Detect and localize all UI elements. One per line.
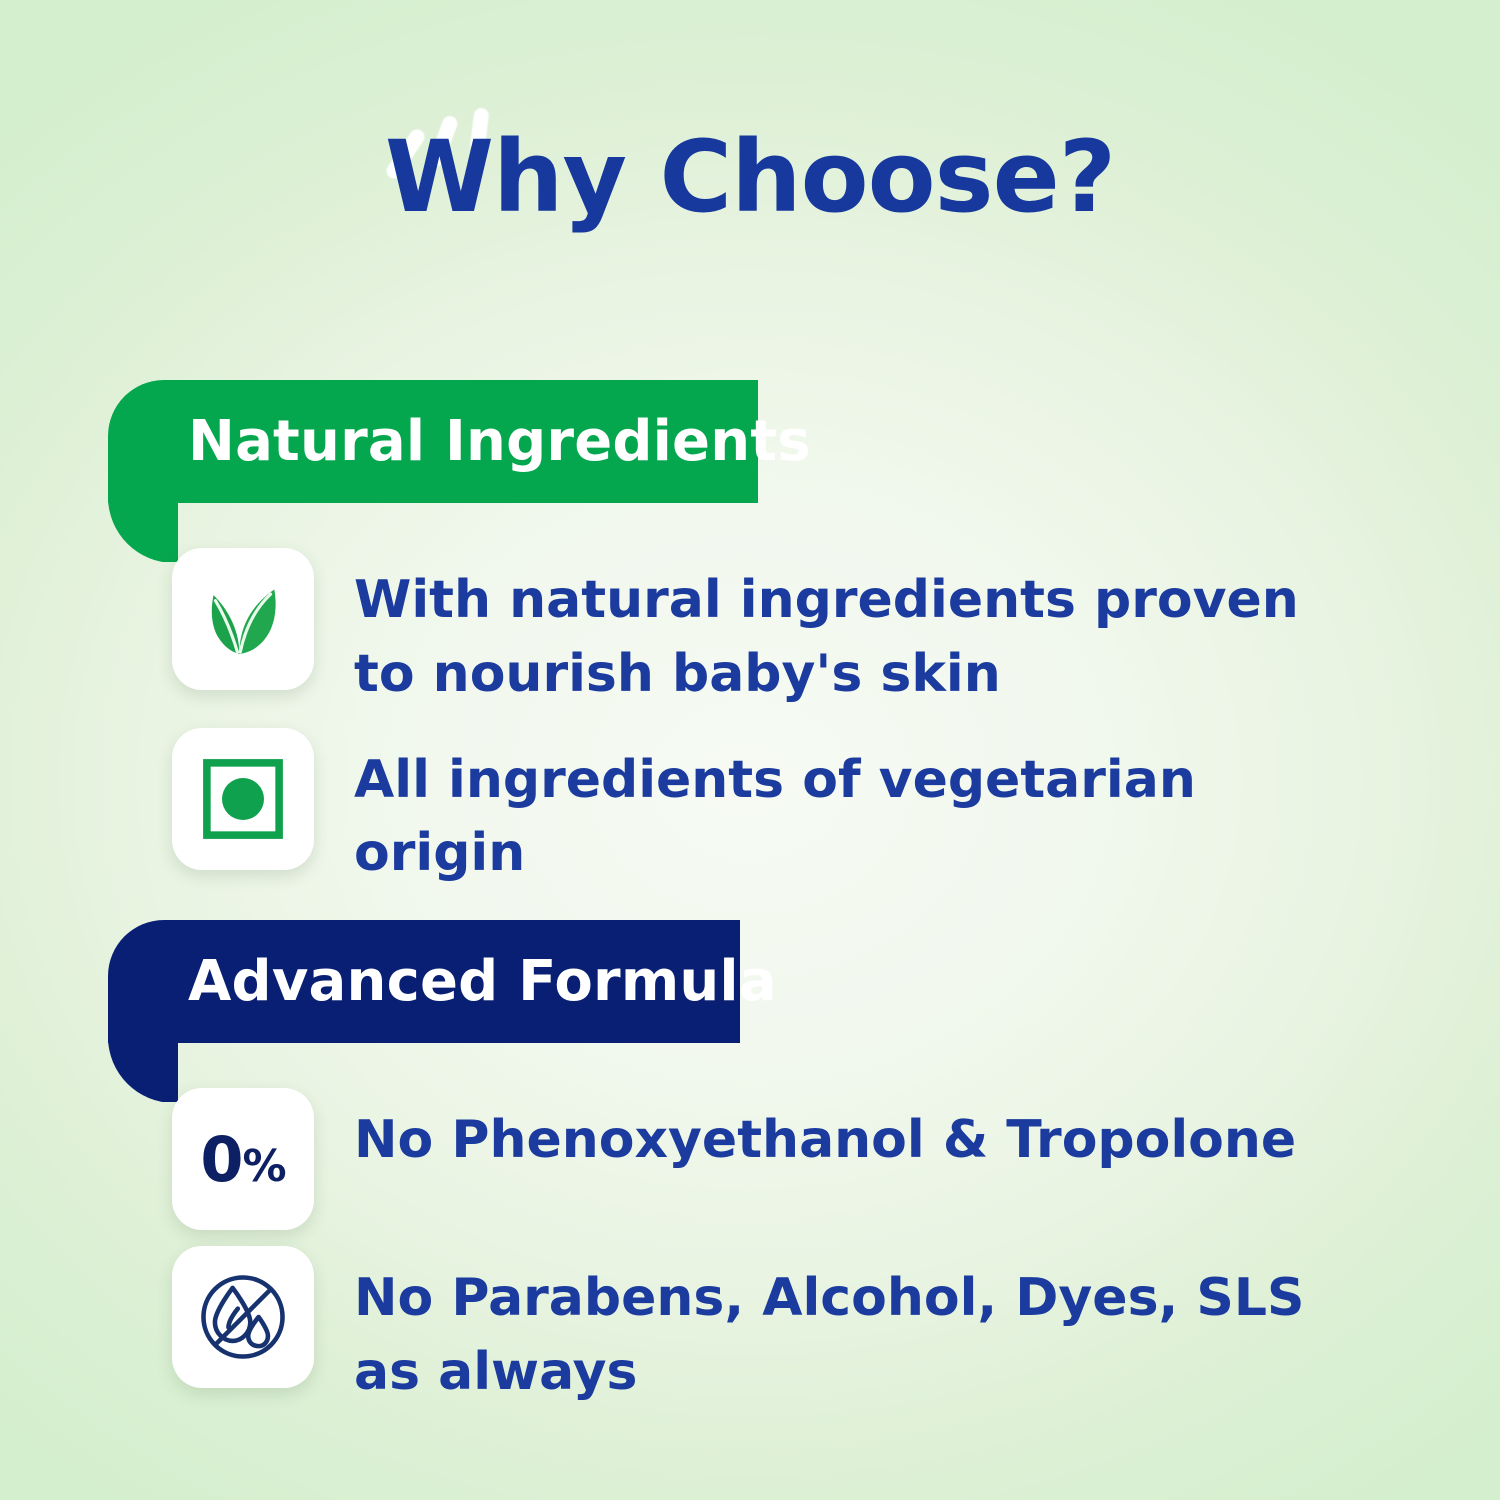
zero-percent-icon: 0% <box>200 1123 285 1196</box>
feature-text: All ingredients of vegetarian origin <box>354 728 1314 892</box>
icon-card <box>172 548 314 690</box>
page-title: Why Choose? <box>0 128 1500 227</box>
percent-sign: % <box>243 1141 286 1192</box>
list-item: No Parabens, Alcohol, Dyes, SLS as alway… <box>0 1246 1500 1410</box>
icon-card <box>172 728 314 870</box>
list-item: All ingredients of vegetarian origin <box>0 728 1500 892</box>
zero-percent-value: 0 <box>200 1123 242 1196</box>
list-item: 0% No Phenoxyethanol & Tropolone <box>0 1088 1500 1230</box>
section-banner-wrap: Advanced Formula 0% No Phenoxyethanol & … <box>0 920 1500 1160</box>
section-advanced-formula: Advanced Formula 0% No Phenoxyethanol & … <box>0 920 1500 1160</box>
section-banner-advanced-formula: Advanced Formula <box>108 920 740 1043</box>
section-banner-natural-ingredients: Natural Ingredients <box>108 380 758 503</box>
icon-card <box>172 1246 314 1388</box>
leaf-icon <box>197 573 289 665</box>
list-item: With natural ingredients proven to nouri… <box>0 548 1500 712</box>
section-heading: Advanced Formula <box>108 949 777 1014</box>
infographic-poster: Why Choose? Natural Ingredients <box>0 0 1500 1500</box>
feature-text: No Phenoxyethanol & Tropolone <box>354 1088 1296 1178</box>
section-natural-ingredients: Natural Ingredients With natural ingredi… <box>0 380 1500 620</box>
no-water-droplet-icon <box>191 1265 295 1369</box>
feature-text: No Parabens, Alcohol, Dyes, SLS as alway… <box>354 1246 1314 1410</box>
feature-text: With natural ingredients proven to nouri… <box>354 548 1314 712</box>
section-heading: Natural Ingredients <box>108 409 811 474</box>
icon-card: 0% <box>172 1088 314 1230</box>
feature-list: 0% No Phenoxyethanol & Tropolone <box>0 1088 1500 1426</box>
section-banner-wrap: Natural Ingredients With natural ingredi… <box>0 380 1500 620</box>
vegetarian-mark-icon <box>201 757 285 841</box>
feature-list: With natural ingredients proven to nouri… <box>0 548 1500 907</box>
